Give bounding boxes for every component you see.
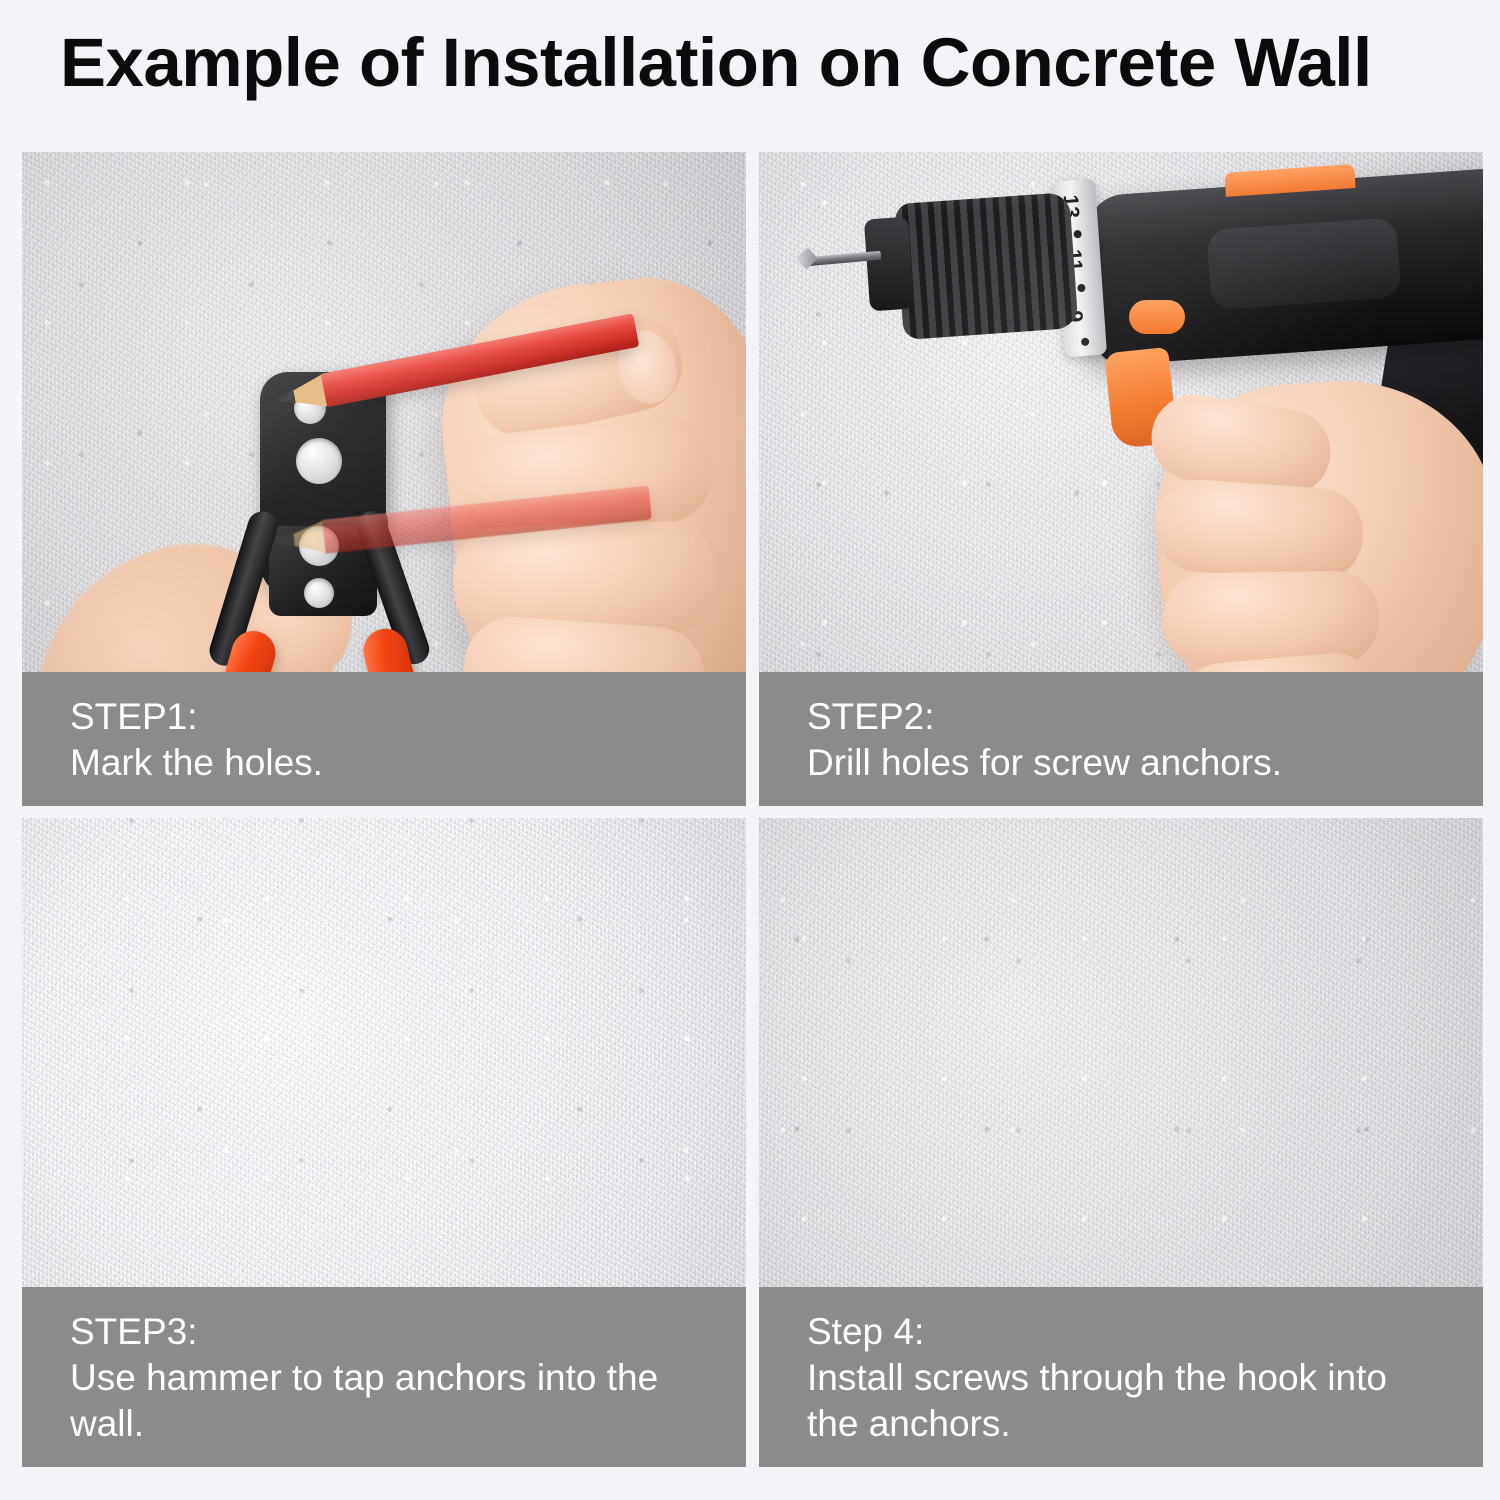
clutch-dot-1 [1073, 230, 1082, 239]
hook-hole-bottom [304, 578, 334, 608]
step-1-text: Mark the holes. [70, 740, 710, 786]
step-2-label: STEP2: [807, 694, 1483, 740]
drill-grip-pad [1206, 217, 1401, 310]
step-2-text: Drill holes for screw anchors. [807, 740, 1447, 786]
drill-chuck-nose [864, 217, 914, 312]
hook-hole-upper-mid [296, 438, 342, 484]
pencil-lead-ghost [274, 533, 295, 549]
infographic-page: Example of Installation on Concrete Wall [0, 0, 1500, 1500]
step-3-text: Use hammer to tap anchors into the wall. [70, 1355, 710, 1447]
step-1-caption: STEP1: Mark the holes. [22, 672, 746, 806]
step-panel-2: 13 11 9 [759, 152, 1483, 806]
drill-chuck [894, 192, 1078, 340]
drill-body [1084, 168, 1483, 367]
step-3-caption: STEP3: Use hammer to tap anchors into th… [22, 1287, 746, 1467]
step-panel-1: STEP1: Mark the holes. [22, 152, 746, 806]
step-panel-4: Step 4: Install screws through the hook … [759, 818, 1483, 1467]
step-panel-3: STEP3: Use hammer to tap anchors into th… [22, 818, 746, 1467]
clutch-dot-3 [1081, 338, 1090, 347]
ring-finger [1162, 570, 1380, 668]
step-4-text: Install screws through the hook into the… [807, 1355, 1447, 1447]
page-title: Example of Installation on Concrete Wall [60, 28, 1460, 97]
step-4-label: Step 4: [807, 1309, 1483, 1355]
middle-finger [1152, 477, 1366, 583]
step-4-caption: Step 4: Install screws through the hook … [759, 1287, 1483, 1467]
step-3-label: STEP3: [70, 1309, 746, 1355]
clutch-dot-2 [1077, 284, 1086, 293]
step-2-caption: STEP2: Drill holes for screw anchors. [759, 672, 1483, 806]
steps-grid: STEP1: Mark the holes. 13 11 9 [22, 152, 1483, 1467]
step-1-label: STEP1: [70, 694, 746, 740]
drill-direction-switch [1129, 300, 1185, 334]
